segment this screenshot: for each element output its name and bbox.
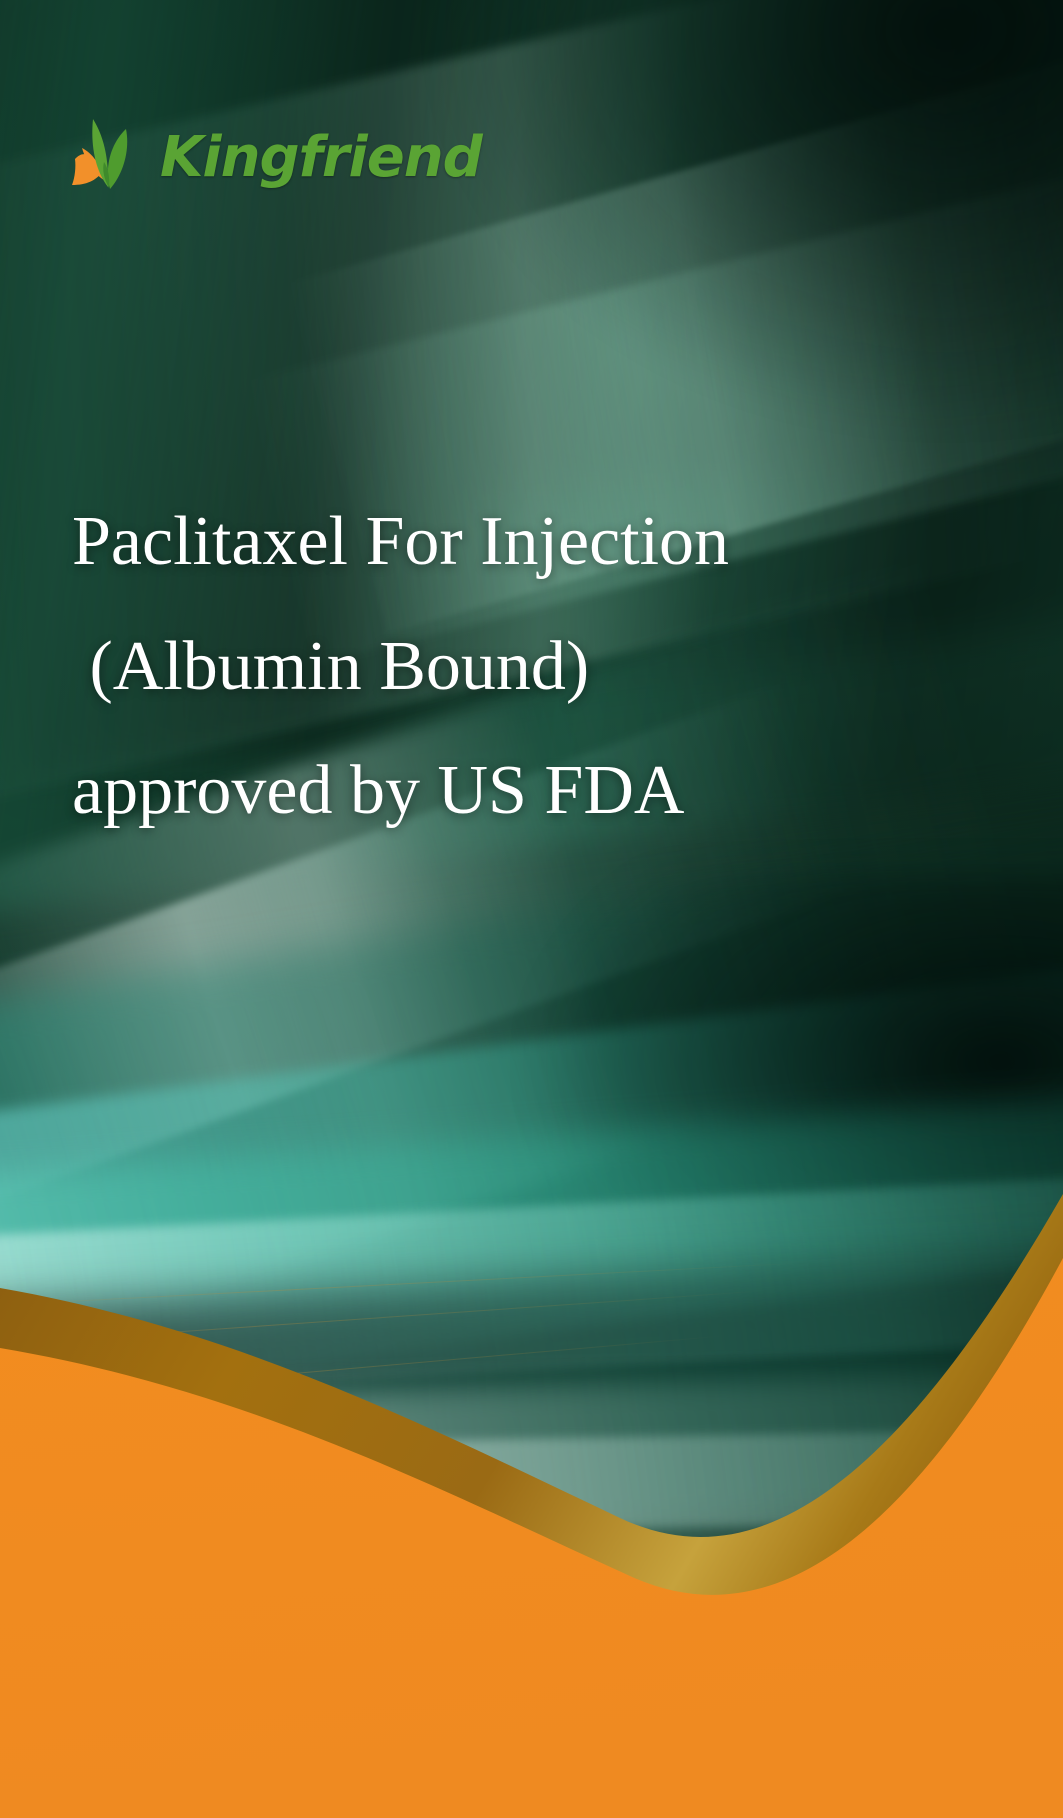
bottom-curve-graphic — [0, 1098, 1063, 1818]
satin-corner-shadow-topright — [425, 0, 1063, 436]
leaf-mark-icon — [70, 115, 148, 201]
headline-line-1: Paclitaxel For Injection — [72, 480, 952, 605]
headline-line-2: (Albumin Bound) — [72, 605, 952, 730]
headline-block: Paclitaxel For Injection (Albumin Bound)… — [72, 480, 952, 854]
promo-poster: Kingfriend Paclitaxel For Injection (Alb… — [0, 0, 1063, 1818]
headline-line-3: approved by US FDA — [72, 729, 952, 854]
brand-logo[interactable]: Kingfriend — [70, 110, 482, 206]
brand-name: Kingfriend — [160, 130, 482, 186]
